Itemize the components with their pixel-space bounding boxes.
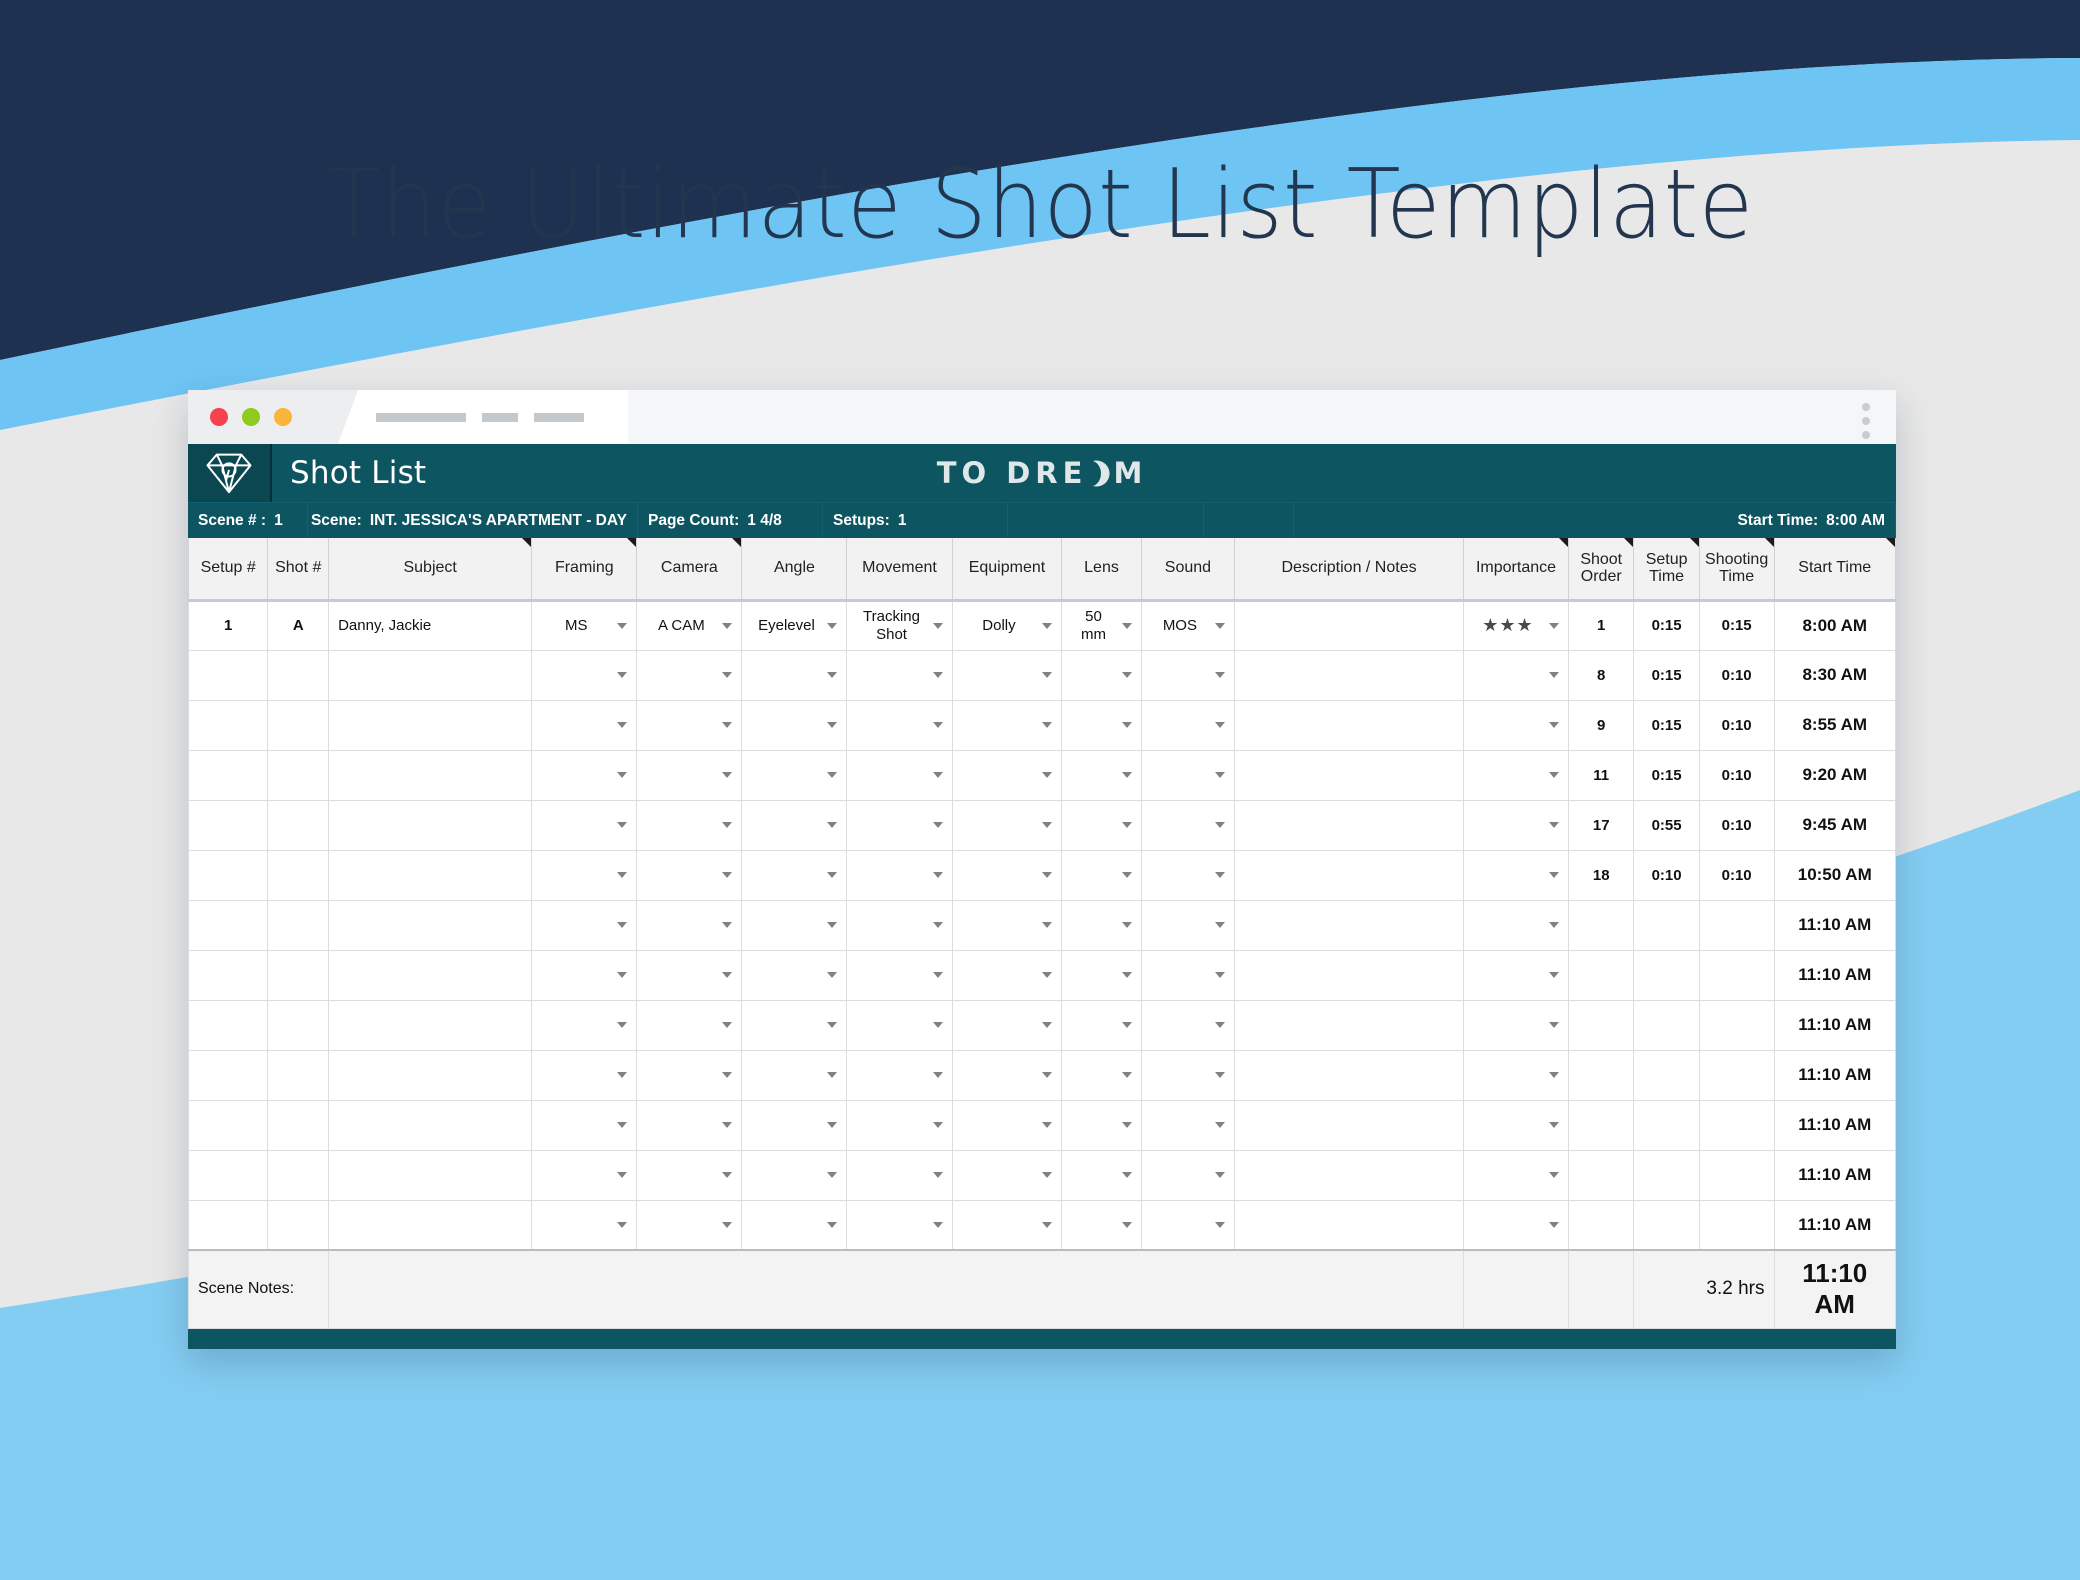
cell-framing[interactable] [532,1100,637,1150]
chevron-down-icon[interactable] [1549,1122,1559,1128]
chevron-down-icon[interactable] [1122,1172,1132,1178]
chevron-down-icon[interactable] [722,623,732,629]
chevron-down-icon[interactable] [1122,623,1132,629]
cell-framing[interactable] [532,1050,637,1100]
chevron-down-icon[interactable] [1042,772,1052,778]
cell-equipment[interactable] [952,1050,1062,1100]
chevron-down-icon[interactable] [827,722,837,728]
cell-subject[interactable] [329,900,532,950]
cell-camera[interactable] [637,1050,742,1100]
cell-movement[interactable] [847,1100,952,1150]
cell-notes[interactable] [1235,650,1464,700]
minimize-window-button[interactable] [242,408,260,426]
chevron-down-icon[interactable] [933,722,943,728]
chevron-down-icon[interactable] [1122,872,1132,878]
cell-movement[interactable] [847,650,952,700]
cell-camera[interactable] [637,750,742,800]
chevron-down-icon[interactable] [827,772,837,778]
chevron-down-icon[interactable] [722,1172,732,1178]
chevron-down-icon[interactable] [1549,922,1559,928]
scene-notes-input[interactable] [329,1250,1464,1328]
cell-setup[interactable] [189,950,268,1000]
chevron-down-icon[interactable] [1549,1222,1559,1228]
column-header-shot[interactable]: Shot # [268,538,329,600]
cell-sound[interactable] [1141,950,1234,1000]
cell-angle[interactable] [742,750,847,800]
chevron-down-icon[interactable] [1549,872,1559,878]
chevron-down-icon[interactable] [617,1122,627,1128]
cell-framing[interactable] [532,650,637,700]
cell-importance[interactable] [1463,800,1568,850]
cell-movement[interactable] [847,700,952,750]
cell-shoot_order[interactable] [1569,1050,1634,1100]
cell-camera[interactable] [637,800,742,850]
chevron-down-icon[interactable] [617,872,627,878]
cell-sound[interactable] [1141,650,1234,700]
chevron-down-icon[interactable] [617,922,627,928]
cell-shooting_time[interactable] [1699,900,1774,950]
chevron-down-icon[interactable] [1215,772,1225,778]
chevron-down-icon[interactable] [1122,1222,1132,1228]
cell-setup[interactable] [189,1000,268,1050]
cell-equipment[interactable] [952,750,1062,800]
cell-importance[interactable] [1463,1200,1568,1250]
cell-shoot_order[interactable] [1569,1200,1634,1250]
cell-camera[interactable] [637,1150,742,1200]
chevron-down-icon[interactable] [1122,1072,1132,1078]
cell-lens[interactable] [1062,850,1141,900]
cell-sound[interactable] [1141,1050,1234,1100]
cell-setup[interactable] [189,1150,268,1200]
chevron-down-icon[interactable] [617,772,627,778]
chevron-down-icon[interactable] [1122,822,1132,828]
cell-setup_time[interactable] [1634,1050,1699,1100]
cell-shoot_order[interactable]: 8 [1569,650,1634,700]
cell-importance[interactable] [1463,650,1568,700]
chevron-down-icon[interactable] [827,972,837,978]
cell-lens[interactable] [1062,1200,1141,1250]
cell-subject[interactable] [329,700,532,750]
cell-movement[interactable] [847,900,952,950]
cell-notes[interactable] [1235,850,1464,900]
cell-lens[interactable]: 50 mm [1062,600,1141,650]
cell-sound[interactable] [1141,850,1234,900]
chevron-down-icon[interactable] [827,623,837,629]
cell-shooting_time[interactable]: 0:15 [1699,600,1774,650]
maximize-window-button[interactable] [274,408,292,426]
chevron-down-icon[interactable] [1122,672,1132,678]
cell-shot[interactable] [268,1100,329,1150]
cell-setup_time[interactable]: 0:15 [1634,700,1699,750]
cell-subject[interactable] [329,850,532,900]
cell-setup[interactable] [189,1050,268,1100]
cell-sound[interactable] [1141,1000,1234,1050]
cell-camera[interactable] [637,1100,742,1150]
cell-angle[interactable] [742,800,847,850]
chevron-down-icon[interactable] [1122,922,1132,928]
chevron-down-icon[interactable] [722,1122,732,1128]
cell-movement[interactable] [847,1150,952,1200]
cell-equipment[interactable] [952,1100,1062,1150]
cell-notes[interactable] [1235,600,1464,650]
cell-shoot_order[interactable] [1569,1000,1634,1050]
cell-subject[interactable]: Danny, Jackie [329,600,532,650]
cell-subject[interactable] [329,1050,532,1100]
cell-subject[interactable] [329,950,532,1000]
chevron-down-icon[interactable] [722,722,732,728]
chevron-down-icon[interactable] [722,1022,732,1028]
cell-setup[interactable] [189,650,268,700]
cell-notes[interactable] [1235,900,1464,950]
cell-shot[interactable] [268,950,329,1000]
chevron-down-icon[interactable] [1549,772,1559,778]
cell-equipment[interactable] [952,850,1062,900]
column-header-shooting_time[interactable]: Shooting Time [1699,538,1774,600]
chevron-down-icon[interactable] [1549,1072,1559,1078]
column-header-equipment[interactable]: Equipment [952,538,1062,600]
cell-shot[interactable] [268,1050,329,1100]
cell-importance[interactable] [1463,700,1568,750]
cell-importance[interactable] [1463,850,1568,900]
cell-sound[interactable] [1141,700,1234,750]
cell-subject[interactable] [329,650,532,700]
chevron-down-icon[interactable] [722,672,732,678]
cell-angle[interactable] [742,700,847,750]
cell-equipment[interactable] [952,1200,1062,1250]
chevron-down-icon[interactable] [1215,672,1225,678]
cell-shoot_order[interactable]: 11 [1569,750,1634,800]
cell-shoot_order[interactable] [1569,1150,1634,1200]
cell-camera[interactable] [637,650,742,700]
cell-sound[interactable] [1141,800,1234,850]
column-header-framing[interactable]: Framing [532,538,637,600]
chevron-down-icon[interactable] [617,1222,627,1228]
chevron-down-icon[interactable] [617,672,627,678]
cell-notes[interactable] [1235,750,1464,800]
cell-lens[interactable] [1062,650,1141,700]
chevron-down-icon[interactable] [1215,1022,1225,1028]
cell-framing[interactable] [532,700,637,750]
cell-angle[interactable] [742,1100,847,1150]
chevron-down-icon[interactable] [1122,1122,1132,1128]
cell-setup_time[interactable]: 0:15 [1634,650,1699,700]
cell-movement[interactable] [847,1050,952,1100]
cell-shooting_time[interactable]: 0:10 [1699,850,1774,900]
chevron-down-icon[interactable] [1042,623,1052,629]
cell-lens[interactable] [1062,1100,1141,1150]
cell-shoot_order[interactable] [1569,950,1634,1000]
cell-subject[interactable] [329,800,532,850]
chevron-down-icon[interactable] [1549,722,1559,728]
cell-angle[interactable] [742,1050,847,1100]
chevron-down-icon[interactable] [1215,1122,1225,1128]
info-setups[interactable]: Setups: 1 [823,503,1008,538]
cell-angle[interactable] [742,900,847,950]
chevron-down-icon[interactable] [722,772,732,778]
cell-shooting_time[interactable]: 0:10 [1699,700,1774,750]
cell-shot[interactable] [268,1000,329,1050]
cell-framing[interactable] [532,950,637,1000]
cell-shoot_order[interactable] [1569,900,1634,950]
chevron-down-icon[interactable] [827,1172,837,1178]
chevron-down-icon[interactable] [722,922,732,928]
cell-shot[interactable] [268,1200,329,1250]
chevron-down-icon[interactable] [1215,623,1225,629]
cell-setup_time[interactable]: 0:55 [1634,800,1699,850]
cell-sound[interactable]: MOS [1141,600,1234,650]
cell-setup_time[interactable]: 0:10 [1634,850,1699,900]
cell-angle[interactable] [742,850,847,900]
cell-equipment[interactable] [952,1000,1062,1050]
cell-subject[interactable] [329,1150,532,1200]
cell-shooting_time[interactable]: 0:10 [1699,650,1774,700]
cell-setup[interactable] [189,750,268,800]
cell-notes[interactable] [1235,700,1464,750]
chevron-down-icon[interactable] [933,623,943,629]
cell-shooting_time[interactable] [1699,1150,1774,1200]
cell-setup_time[interactable] [1634,1150,1699,1200]
chevron-down-icon[interactable] [1215,872,1225,878]
cell-shooting_time[interactable] [1699,1200,1774,1250]
chevron-down-icon[interactable] [827,922,837,928]
cell-setup[interactable] [189,1100,268,1150]
chevron-down-icon[interactable] [1215,722,1225,728]
chevron-down-icon[interactable] [933,1072,943,1078]
chevron-down-icon[interactable] [722,972,732,978]
cell-camera[interactable] [637,950,742,1000]
cell-lens[interactable] [1062,1000,1141,1050]
cell-movement[interactable] [847,1000,952,1050]
cell-shoot_order[interactable]: 1 [1569,600,1634,650]
chevron-down-icon[interactable] [722,822,732,828]
chevron-down-icon[interactable] [1549,972,1559,978]
cell-notes[interactable] [1235,1200,1464,1250]
chevron-down-icon[interactable] [933,1122,943,1128]
cell-sound[interactable] [1141,1150,1234,1200]
cell-shot[interactable] [268,850,329,900]
cell-movement[interactable] [847,950,952,1000]
cell-subject[interactable] [329,1100,532,1150]
cell-subject[interactable] [329,1200,532,1250]
cell-notes[interactable] [1235,1000,1464,1050]
chevron-down-icon[interactable] [1215,1172,1225,1178]
cell-subject[interactable] [329,1000,532,1050]
column-header-camera[interactable]: Camera [637,538,742,600]
cell-setup_time[interactable] [1634,1200,1699,1250]
chevron-down-icon[interactable] [617,1072,627,1078]
cell-equipment[interactable] [952,700,1062,750]
chevron-down-icon[interactable] [617,623,627,629]
cell-framing[interactable] [532,1150,637,1200]
column-header-setup[interactable]: Setup # [189,538,268,600]
chevron-down-icon[interactable] [617,1172,627,1178]
column-header-subject[interactable]: Subject [329,538,532,600]
chevron-down-icon[interactable] [1549,1022,1559,1028]
cell-importance[interactable] [1463,1000,1568,1050]
cell-camera[interactable] [637,900,742,950]
cell-importance[interactable]: ★★★ [1463,600,1568,650]
chevron-down-icon[interactable] [1042,1122,1052,1128]
chevron-down-icon[interactable] [1549,822,1559,828]
cell-importance[interactable] [1463,1150,1568,1200]
column-header-notes[interactable]: Description / Notes [1235,538,1464,600]
cell-shot[interactable] [268,650,329,700]
chevron-down-icon[interactable] [1042,922,1052,928]
cell-framing[interactable] [532,800,637,850]
cell-framing[interactable] [532,1000,637,1050]
cell-equipment[interactable] [952,650,1062,700]
chevron-down-icon[interactable] [933,1222,943,1228]
column-header-lens[interactable]: Lens [1062,538,1141,600]
chevron-down-icon[interactable] [1122,722,1132,728]
cell-setup_time[interactable]: 0:15 [1634,600,1699,650]
cell-movement[interactable]: Tracking Shot [847,600,952,650]
cell-movement[interactable] [847,850,952,900]
chevron-down-icon[interactable] [827,872,837,878]
cell-lens[interactable] [1062,1050,1141,1100]
chevron-down-icon[interactable] [722,1072,732,1078]
column-header-angle[interactable]: Angle [742,538,847,600]
cell-subject[interactable] [329,750,532,800]
cell-notes[interactable] [1235,1050,1464,1100]
cell-setup_time[interactable] [1634,1000,1699,1050]
info-start-time[interactable]: Start Time: 8:00 AM [1294,503,1896,538]
cell-lens[interactable] [1062,1150,1141,1200]
cell-angle[interactable] [742,1200,847,1250]
info-scene[interactable]: Scene: INT. JESSICA'S APARTMENT - DAY [308,503,638,538]
cell-shoot_order[interactable] [1569,1100,1634,1150]
info-scene-number[interactable]: Scene # : 1 [188,503,308,538]
column-header-shoot_order[interactable]: Shoot Order [1569,538,1634,600]
cell-shooting_time[interactable] [1699,950,1774,1000]
cell-angle[interactable] [742,650,847,700]
chevron-down-icon[interactable] [827,1072,837,1078]
cell-framing[interactable]: MS [532,600,637,650]
cell-setup_time[interactable] [1634,950,1699,1000]
cell-framing[interactable] [532,850,637,900]
cell-setup[interactable] [189,850,268,900]
chevron-down-icon[interactable] [933,822,943,828]
chevron-down-icon[interactable] [1122,772,1132,778]
cell-setup_time[interactable] [1634,1100,1699,1150]
cell-sound[interactable] [1141,1200,1234,1250]
chevron-down-icon[interactable] [1215,1222,1225,1228]
column-header-importance[interactable]: Importance [1463,538,1568,600]
chevron-down-icon[interactable] [617,1022,627,1028]
chevron-down-icon[interactable] [827,672,837,678]
cell-importance[interactable] [1463,1050,1568,1100]
cell-angle[interactable] [742,1000,847,1050]
cell-notes[interactable] [1235,800,1464,850]
chevron-down-icon[interactable] [933,1172,943,1178]
column-header-movement[interactable]: Movement [847,538,952,600]
cell-camera[interactable] [637,1200,742,1250]
column-header-start_time[interactable]: Start Time [1774,538,1896,600]
cell-framing[interactable] [532,1200,637,1250]
cell-sound[interactable] [1141,750,1234,800]
cell-shot[interactable] [268,1150,329,1200]
chevron-down-icon[interactable] [827,1122,837,1128]
cell-angle[interactable] [742,950,847,1000]
chevron-down-icon[interactable] [617,722,627,728]
chevron-down-icon[interactable] [1215,1072,1225,1078]
chevron-down-icon[interactable] [1042,972,1052,978]
cell-movement[interactable] [847,800,952,850]
cell-angle[interactable]: Eyelevel [742,600,847,650]
cell-notes[interactable] [1235,1100,1464,1150]
chevron-down-icon[interactable] [933,1022,943,1028]
cell-shooting_time[interactable] [1699,1000,1774,1050]
chevron-down-icon[interactable] [617,972,627,978]
column-header-setup_time[interactable]: Setup Time [1634,538,1699,600]
cell-equipment[interactable] [952,1150,1062,1200]
chevron-down-icon[interactable] [722,872,732,878]
chevron-down-icon[interactable] [933,972,943,978]
cell-sound[interactable] [1141,900,1234,950]
cell-notes[interactable] [1235,950,1464,1000]
chevron-down-icon[interactable] [1042,1172,1052,1178]
cell-movement[interactable] [847,750,952,800]
chevron-down-icon[interactable] [933,922,943,928]
chevron-down-icon[interactable] [933,872,943,878]
chevron-down-icon[interactable] [933,672,943,678]
chevron-down-icon[interactable] [827,1222,837,1228]
cell-importance[interactable] [1463,900,1568,950]
cell-shooting_time[interactable] [1699,1050,1774,1100]
close-window-button[interactable] [210,408,228,426]
cell-equipment[interactable]: Dolly [952,600,1062,650]
cell-camera[interactable] [637,850,742,900]
cell-camera[interactable] [637,700,742,750]
cell-shot[interactable] [268,750,329,800]
cell-shooting_time[interactable] [1699,1100,1774,1150]
cell-equipment[interactable] [952,800,1062,850]
chevron-down-icon[interactable] [1042,722,1052,728]
cell-lens[interactable] [1062,700,1141,750]
chevron-down-icon[interactable] [1549,672,1559,678]
cell-camera[interactable]: A CAM [637,600,742,650]
chevron-down-icon[interactable] [1042,1022,1052,1028]
cell-lens[interactable] [1062,800,1141,850]
cell-setup[interactable]: 1 [189,600,268,650]
chevron-down-icon[interactable] [827,822,837,828]
cell-equipment[interactable] [952,900,1062,950]
chevron-down-icon[interactable] [1042,1222,1052,1228]
kebab-menu-icon[interactable] [1862,403,1870,444]
cell-shot[interactable] [268,800,329,850]
chevron-down-icon[interactable] [933,772,943,778]
cell-shot[interactable] [268,700,329,750]
cell-notes[interactable] [1235,1150,1464,1200]
cell-setup[interactable] [189,700,268,750]
chevron-down-icon[interactable] [1122,972,1132,978]
chevron-down-icon[interactable] [1549,1172,1559,1178]
info-page-count[interactable]: Page Count: 1 4/8 [638,503,823,538]
cell-shot[interactable]: A [268,600,329,650]
cell-lens[interactable] [1062,900,1141,950]
cell-movement[interactable] [847,1200,952,1250]
cell-setup[interactable] [189,1200,268,1250]
column-header-sound[interactable]: Sound [1141,538,1234,600]
chevron-down-icon[interactable] [722,1222,732,1228]
cell-shoot_order[interactable]: 9 [1569,700,1634,750]
cell-setup_time[interactable]: 0:15 [1634,750,1699,800]
cell-lens[interactable] [1062,950,1141,1000]
cell-setup_time[interactable] [1634,900,1699,950]
chevron-down-icon[interactable] [1122,1022,1132,1028]
chevron-down-icon[interactable] [617,822,627,828]
cell-camera[interactable] [637,1000,742,1050]
